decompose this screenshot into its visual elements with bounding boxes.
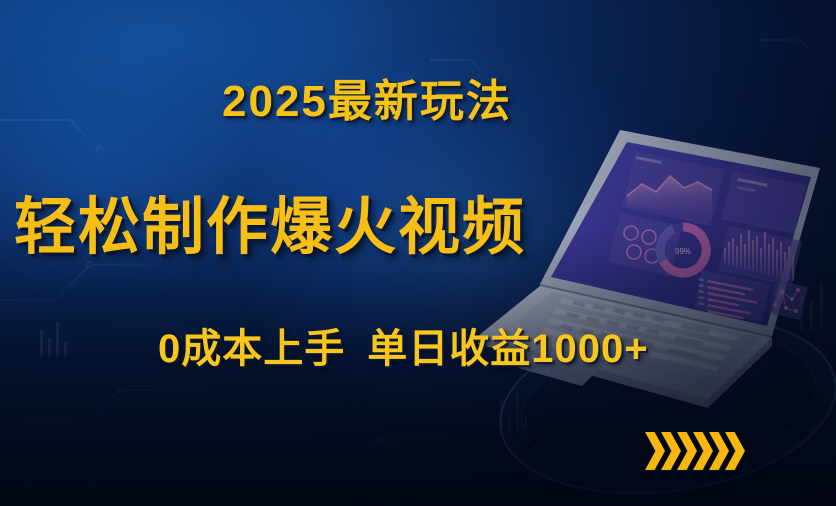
- headline-line-3-part-1: 0成本上手: [158, 327, 345, 371]
- poster-canvas: 99%: [0, 0, 836, 506]
- headline-line-3: 0成本上手单日收益1000+: [158, 316, 649, 374]
- chevron-right-icon: [645, 432, 665, 470]
- headline-line-1: 2025最新玩法: [222, 65, 512, 129]
- headline-line-2: 轻松制作爆火视频: [14, 176, 526, 266]
- headline-line-3-part-2: 单日收益1000+: [367, 327, 648, 371]
- chevron-arrow-group: [645, 432, 741, 470]
